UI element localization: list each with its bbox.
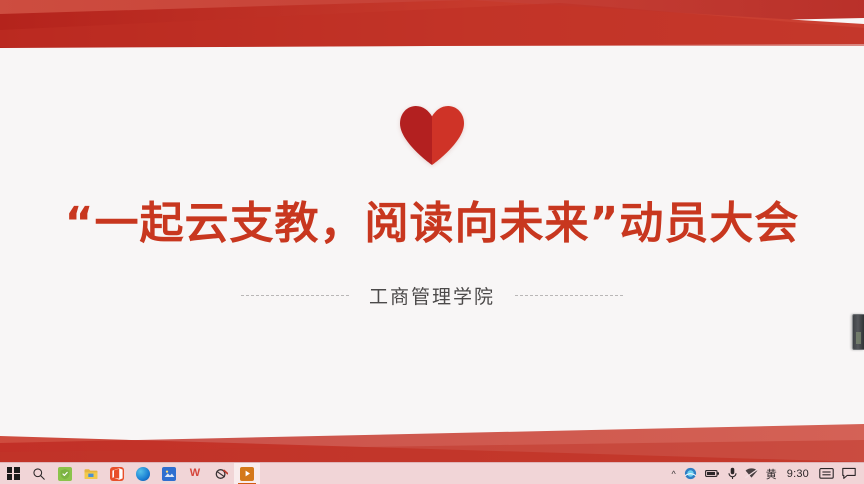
taskbar-app-photos[interactable] — [156, 463, 182, 484]
taskbar-app-office[interactable] — [104, 463, 130, 484]
photos-icon — [162, 467, 176, 481]
title-block: “一起云支教，阅读向未来”动员大会 — [0, 198, 864, 250]
search-icon — [32, 467, 46, 481]
wps-presentation-icon — [240, 467, 254, 481]
tray-clock[interactable]: 9:30 — [781, 463, 815, 484]
subtitle-row: 工商管理学院 — [0, 282, 864, 309]
tray-microphone-icon[interactable] — [724, 463, 741, 484]
tray-ime-indicator[interactable]: 黄 — [762, 463, 781, 484]
presentation-slide[interactable]: “一起云支教，阅读向未来”动员大会 工商管理学院 — [0, 0, 864, 484]
tray-notification-icon[interactable] — [815, 463, 838, 484]
system-tray: ^ — [668, 463, 864, 484]
sidebar-toggle-handle[interactable] — [852, 314, 864, 350]
start-button[interactable] — [0, 463, 26, 484]
wps-icon: W — [188, 467, 202, 481]
tray-overflow-button[interactable]: ^ — [668, 463, 680, 484]
subtitle-text: 工商管理学院 — [369, 282, 495, 309]
dash-rule-left — [241, 295, 349, 296]
tray-antivirus-icon[interactable] — [680, 463, 701, 484]
taskbar: W ^ — [0, 462, 864, 484]
screen: “一起云支教，阅读向未来”动员大会 工商管理学院 — [0, 0, 864, 484]
taskbar-app-presentation[interactable] — [234, 463, 260, 484]
tray-action-center-icon[interactable] — [838, 463, 860, 484]
dash-rule-right — [515, 295, 623, 296]
office-icon — [110, 467, 124, 481]
shield-green-icon — [58, 467, 72, 481]
grip-icon — [856, 332, 861, 344]
page-title: “一起云支教，阅读向未来”动员大会 — [0, 198, 864, 250]
tool-icon — [214, 467, 228, 481]
windows-logo-icon — [7, 467, 20, 480]
taskbar-app-tool[interactable] — [208, 463, 234, 484]
taskbar-app-edge[interactable] — [130, 463, 156, 484]
edge-browser-icon — [136, 467, 150, 481]
search-button[interactable] — [26, 463, 52, 484]
taskbar-app-security[interactable] — [52, 463, 78, 484]
taskbar-app-wps[interactable]: W — [182, 463, 208, 484]
taskbar-apps: W — [0, 463, 260, 484]
tray-network-icon[interactable] — [741, 463, 762, 484]
file-explorer-icon — [84, 467, 98, 481]
tray-battery-icon[interactable] — [701, 463, 724, 484]
taskbar-app-explorer[interactable] — [78, 463, 104, 484]
